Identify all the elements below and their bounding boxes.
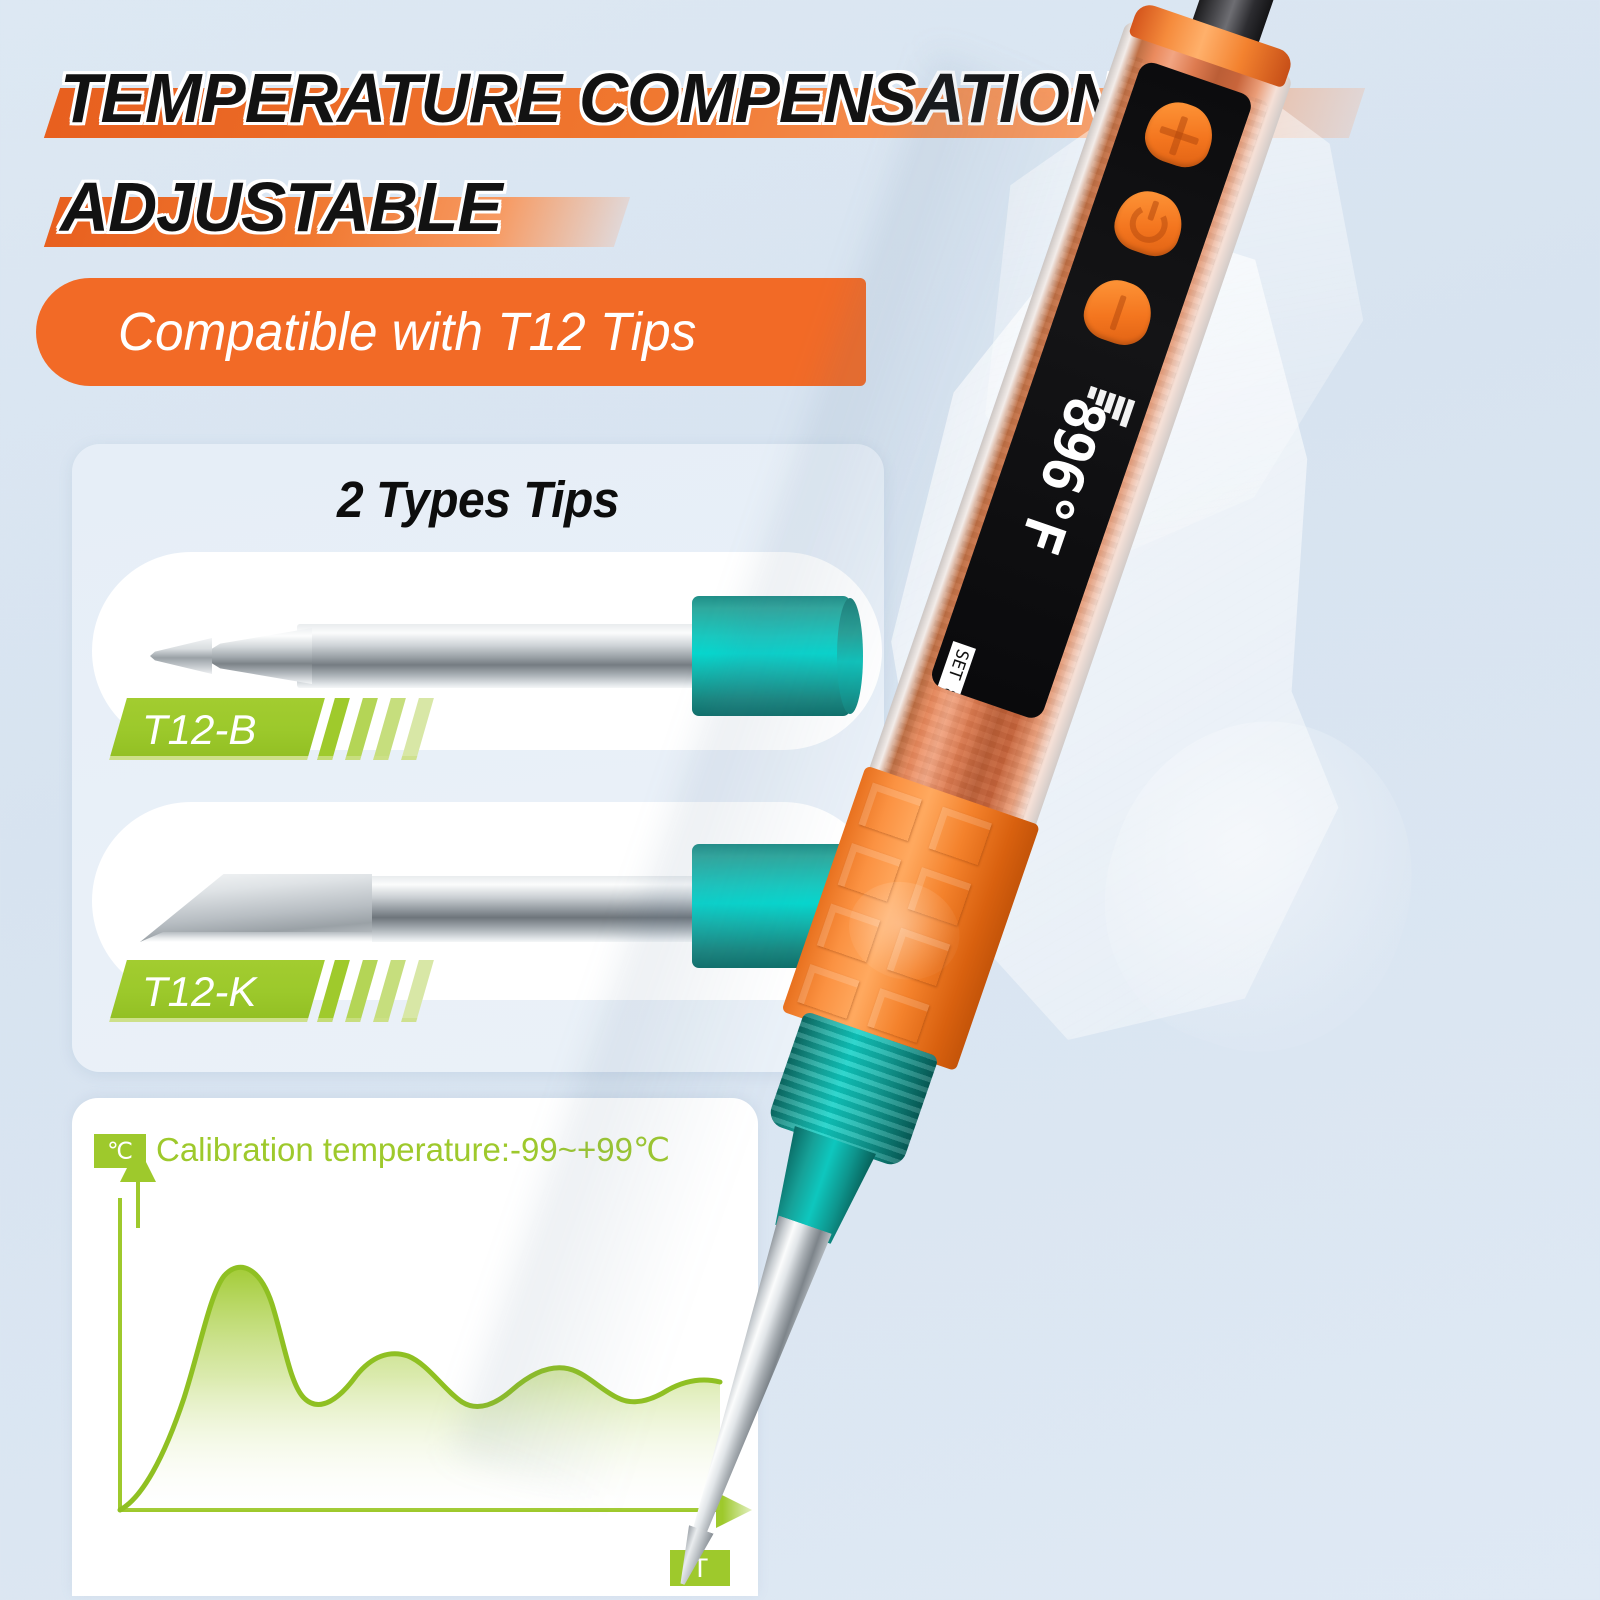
tips-panel-heading: 2 Types Tips <box>96 470 859 529</box>
subtitle-text: Compatible with T12 Tips <box>118 301 696 363</box>
tip-label-text: T12-K <box>142 966 332 1018</box>
power-icon <box>1125 200 1173 248</box>
tip-blade-face <box>140 874 372 942</box>
decrease-temperature-button[interactable] <box>1077 272 1160 352</box>
page-title-line-2: ADJUSTABLE <box>60 167 502 247</box>
meander-motif <box>859 783 922 842</box>
minus-icon <box>1109 295 1126 331</box>
temperature-reading: 896°F <box>1023 389 1119 510</box>
tip-blade-edge <box>140 932 372 942</box>
tip-taper <box>200 628 312 684</box>
tip-label-text: T12-B <box>142 704 332 756</box>
subtitle-banner: Compatible with T12 Tips <box>36 278 866 386</box>
tip-point <box>150 638 212 674</box>
setpoint-label: SET <box>944 646 973 682</box>
tip-shank <box>297 624 702 688</box>
increase-temperature-button[interactable] <box>1138 94 1221 174</box>
power-button[interactable] <box>1108 183 1191 263</box>
meander-motif <box>928 807 991 866</box>
meander-motif <box>797 964 859 1019</box>
product-photo: 896°F SET 896 <box>780 0 1600 1600</box>
